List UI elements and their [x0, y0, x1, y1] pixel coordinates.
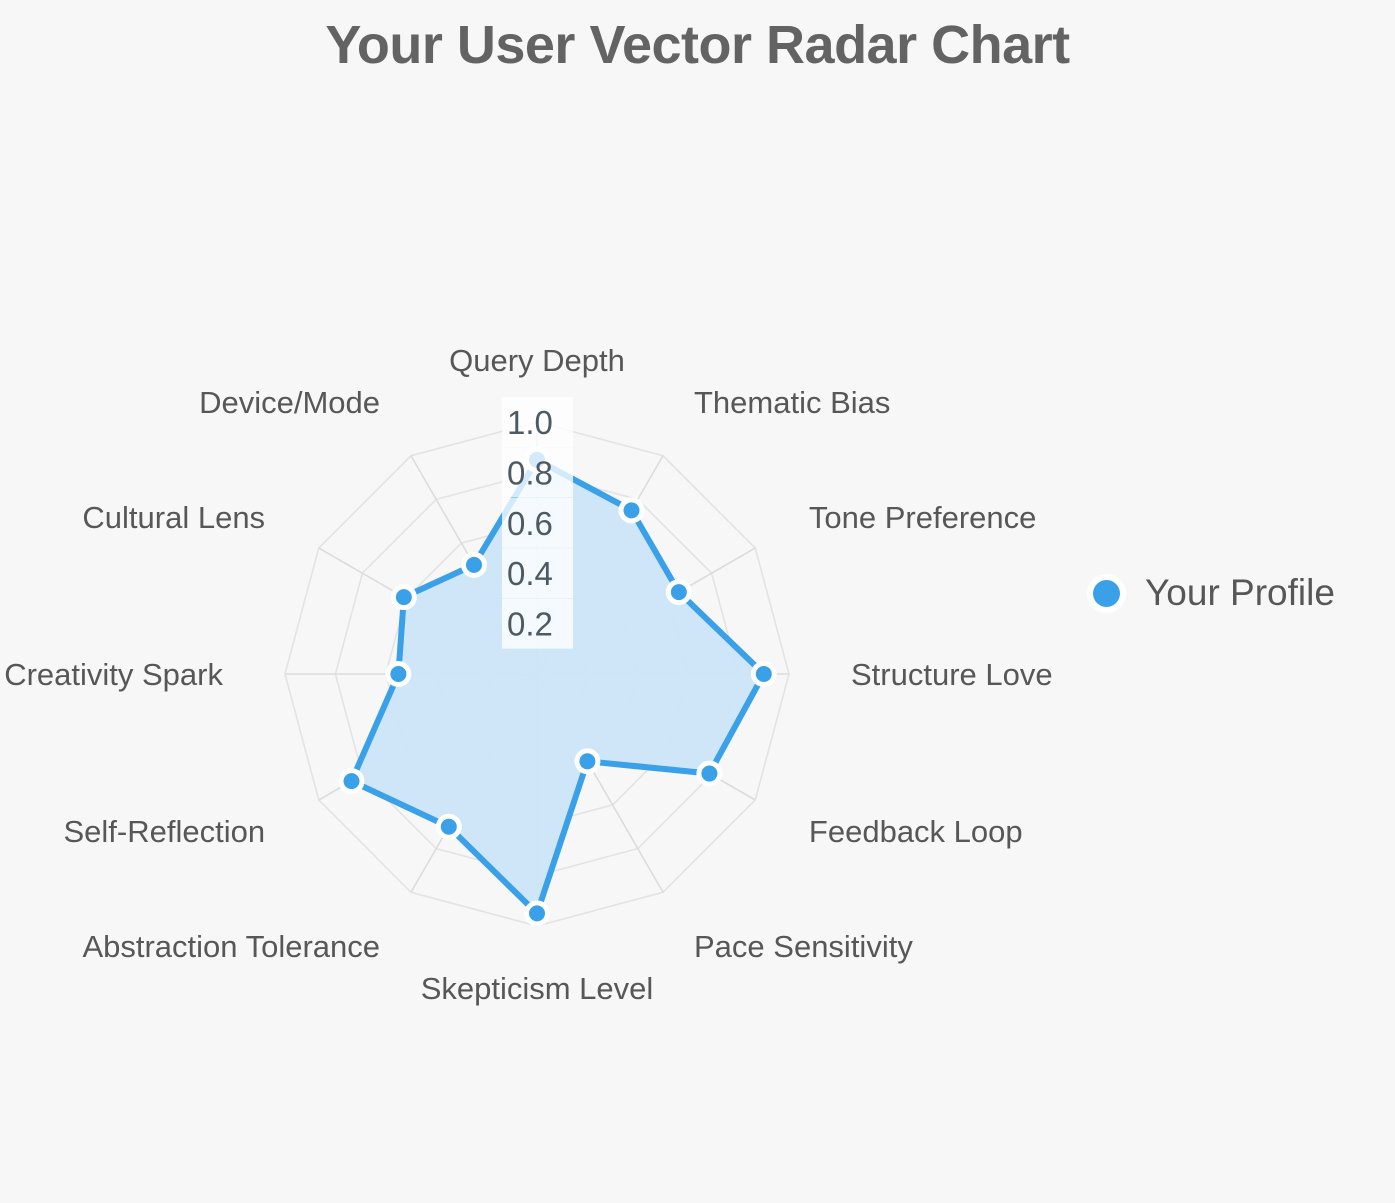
data-point-marker[interactable] — [391, 584, 417, 610]
data-point-marker[interactable] — [574, 748, 600, 774]
category-label-creativity-spark: Creativity Spark — [4, 657, 223, 692]
category-label-device-mode: Device/Mode — [199, 385, 380, 420]
category-label-cultural-lens: Cultural Lens — [82, 500, 265, 535]
category-label-abstraction-tolerance: Abstraction Tolerance — [82, 929, 380, 964]
category-label-structure-love: Structure Love — [851, 657, 1053, 692]
radial-tick-label: 1.0 — [507, 404, 553, 441]
category-label-query-depth: Query Depth — [449, 343, 625, 378]
radial-tick-label: 0.4 — [507, 555, 553, 592]
legend-marker-icon — [1087, 574, 1126, 613]
data-point-marker[interactable] — [436, 814, 462, 840]
category-label-thematic-bias: Thematic Bias — [694, 385, 890, 420]
radar-chart-figure: Your User Vector Radar Chart 0.20.40.60.… — [0, 0, 1395, 1203]
radial-tick-labels: 0.20.40.60.81.0 — [507, 404, 553, 643]
category-label-tone-preference: Tone Preference — [809, 500, 1036, 535]
category-label-pace-sensitivity: Pace Sensitivity — [694, 929, 913, 964]
data-point-marker[interactable] — [619, 497, 645, 523]
data-point-marker[interactable] — [751, 661, 777, 687]
data-point-marker[interactable] — [666, 579, 692, 605]
data-point-marker[interactable] — [524, 900, 550, 926]
category-label-self-reflection: Self-Reflection — [63, 814, 265, 849]
legend-item-label: Your Profile — [1145, 572, 1335, 614]
radial-tick-label: 0.6 — [507, 505, 553, 542]
data-point-marker[interactable] — [385, 661, 411, 687]
radial-tick-label: 0.2 — [507, 606, 553, 643]
data-point-marker[interactable] — [696, 761, 722, 787]
radial-tick-label: 0.8 — [507, 454, 553, 491]
data-point-marker[interactable] — [461, 552, 487, 578]
data-point-marker[interactable] — [339, 768, 365, 794]
chart-legend[interactable]: Your Profile — [1087, 572, 1335, 614]
category-label-skepticism-level: Skepticism Level — [421, 971, 654, 1006]
category-label-feedback-loop: Feedback Loop — [809, 814, 1023, 849]
